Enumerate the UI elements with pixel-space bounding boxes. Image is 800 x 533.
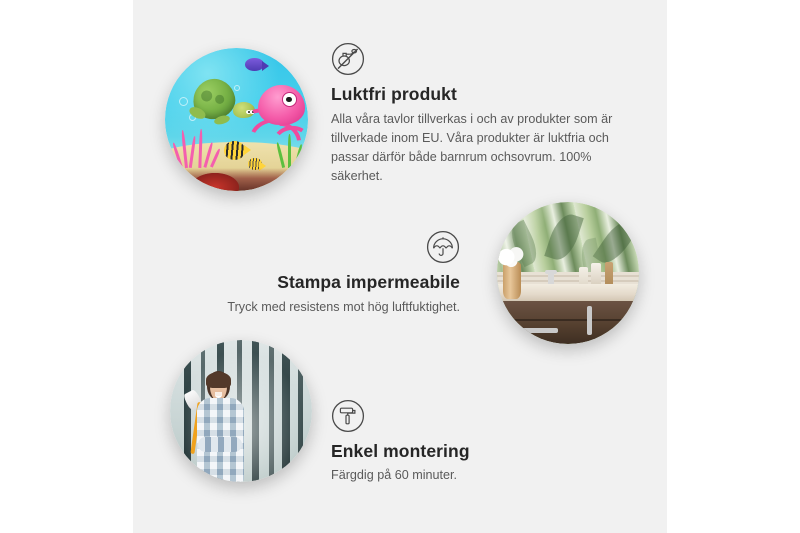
blue-fish-icon xyxy=(245,58,264,71)
pink-coral-illustration xyxy=(174,125,223,168)
feature-waterproof: Stampa impermeabile Tryck med resistens … xyxy=(169,230,460,317)
photo-bathroom-botanical-wallpaper xyxy=(497,202,639,344)
feature-body: Alla våra tavlor tillverkas i och av pro… xyxy=(331,110,616,187)
photo-underwater-kids-mural xyxy=(165,48,308,191)
green-coral-illustration xyxy=(277,131,306,168)
photo-painter-forest-wallpaper xyxy=(170,340,312,482)
yellow-fish-icon xyxy=(224,141,245,160)
feature-title: Luktfri produkt xyxy=(331,84,621,105)
paint-roller-icon xyxy=(331,399,581,433)
woman-with-paint-roller xyxy=(184,368,272,482)
feature-body: Färgdig på 60 minuter. xyxy=(331,466,581,485)
photo-bottom-edge xyxy=(165,168,308,191)
umbrella-icon xyxy=(169,230,460,264)
feature-body: Tryck med resistens mot hög luftfuktighe… xyxy=(169,298,460,317)
no-perfume-icon xyxy=(331,42,621,76)
wooden-vanity xyxy=(497,301,639,344)
feature-easy-mounting: Enkel montering Färgdig på 60 minuter. xyxy=(331,399,581,485)
feature-title: Enkel montering xyxy=(331,441,581,462)
feature-title: Stampa impermeabile xyxy=(169,272,460,293)
promo-infographic: Luktfri produkt Alla våra tavlor tillver… xyxy=(0,0,800,533)
white-flowers xyxy=(497,245,528,268)
feature-odourless: Luktfri produkt Alla våra tavlor tillver… xyxy=(331,42,621,187)
